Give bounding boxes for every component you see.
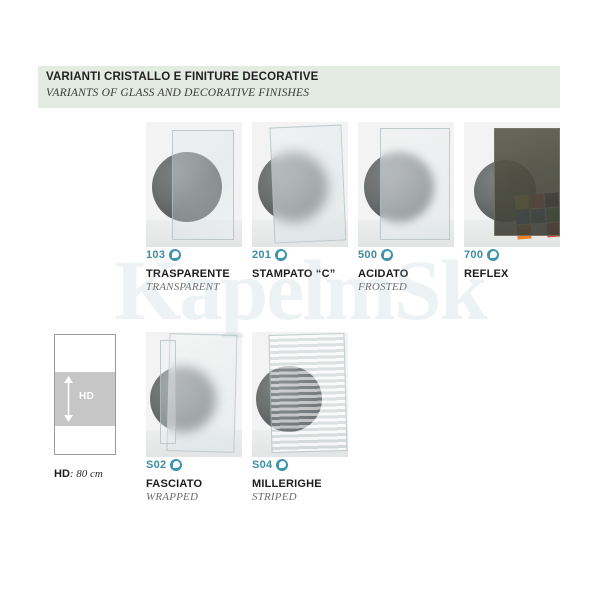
swatch-image-printed-c bbox=[252, 122, 348, 247]
hd-caption: HD: 80 cm bbox=[54, 468, 103, 480]
glass-pane bbox=[172, 130, 234, 240]
swatch-image-striped bbox=[252, 332, 348, 457]
swatch-code-s04: S04 bbox=[252, 457, 348, 472]
glass-pane bbox=[268, 333, 347, 453]
reflex-glass-panel bbox=[494, 128, 560, 236]
swatch-cell-s02[interactable]: S02 FASCIATO WRAPPED bbox=[146, 332, 242, 503]
swatch-name-s04: MILLERIGHE bbox=[252, 478, 348, 490]
glass-pane-edge bbox=[160, 340, 176, 444]
swatch-cell-201[interactable]: 201 STAMPATO “C” bbox=[252, 122, 348, 281]
glass-pane bbox=[270, 124, 347, 243]
swatch-name-700: REFLEX bbox=[464, 268, 560, 280]
swatch-name-en-s02: WRAPPED bbox=[146, 491, 242, 503]
swatch-name-201: STAMPATO “C” bbox=[252, 268, 348, 280]
swatch-cell-700[interactable]: 700 REFLEX bbox=[464, 122, 560, 281]
page-subtitle: VARIANTS OF GLASS AND DECORATIVE FINISHE… bbox=[46, 87, 309, 99]
hd-caption-bold: HD bbox=[54, 468, 70, 480]
glass-pane bbox=[166, 333, 237, 453]
hd-diagram: HD bbox=[54, 334, 116, 455]
code-text: S04 bbox=[252, 459, 272, 471]
swatch-image-reflex bbox=[464, 122, 560, 247]
glass-drop-icon bbox=[275, 249, 287, 261]
code-text: 700 bbox=[464, 249, 483, 261]
swatch-name-s02: FASCIATO bbox=[146, 478, 242, 490]
swatch-code-103: 103 bbox=[146, 247, 242, 262]
swatch-name-en-s04: STRIPED bbox=[252, 491, 348, 503]
swatch-name-103: TRASPARENTE bbox=[146, 268, 242, 280]
glass-pane bbox=[380, 128, 450, 240]
swatch-name-en-500: FROSTED bbox=[358, 281, 454, 293]
page-title: VARIANTI CRISTALLO E FINITURE DECORATIVE bbox=[46, 71, 318, 83]
hd-diagram-label: HD bbox=[79, 391, 94, 402]
swatch-image-frosted bbox=[358, 122, 454, 247]
swatch-code-700: 700 bbox=[464, 247, 560, 262]
hd-caption-rest: : 80 cm bbox=[70, 468, 103, 480]
swatch-name-500: ACIDATO bbox=[358, 268, 454, 280]
swatch-cell-500[interactable]: 500 ACIDATO FROSTED bbox=[358, 122, 454, 293]
section-header-band: VARIANTI CRISTALLO E FINITURE DECORATIVE… bbox=[38, 66, 560, 108]
code-text: 500 bbox=[358, 249, 377, 261]
glass-drop-icon bbox=[170, 459, 182, 471]
swatch-cell-103[interactable]: 103 TRASPARENTE TRANSPARENT bbox=[146, 122, 242, 293]
swatch-image-wrapped bbox=[146, 332, 242, 457]
swatch-name-en-103: TRANSPARENT bbox=[146, 281, 242, 293]
glass-drop-icon bbox=[381, 249, 393, 261]
code-text: 103 bbox=[146, 249, 165, 261]
swatch-code-500: 500 bbox=[358, 247, 454, 262]
glass-drop-icon bbox=[169, 249, 181, 261]
hd-double-arrow-icon bbox=[63, 376, 74, 422]
swatch-image-transparent bbox=[146, 122, 242, 247]
swatch-code-201: 201 bbox=[252, 247, 348, 262]
code-text: 201 bbox=[252, 249, 271, 261]
glass-drop-icon bbox=[276, 459, 288, 471]
stripe-pattern bbox=[269, 334, 346, 452]
swatch-cell-s04[interactable]: S04 MILLERIGHE STRIPED bbox=[252, 332, 348, 503]
glass-drop-icon bbox=[487, 249, 499, 261]
code-text: S02 bbox=[146, 459, 166, 471]
swatch-code-s02: S02 bbox=[146, 457, 242, 472]
